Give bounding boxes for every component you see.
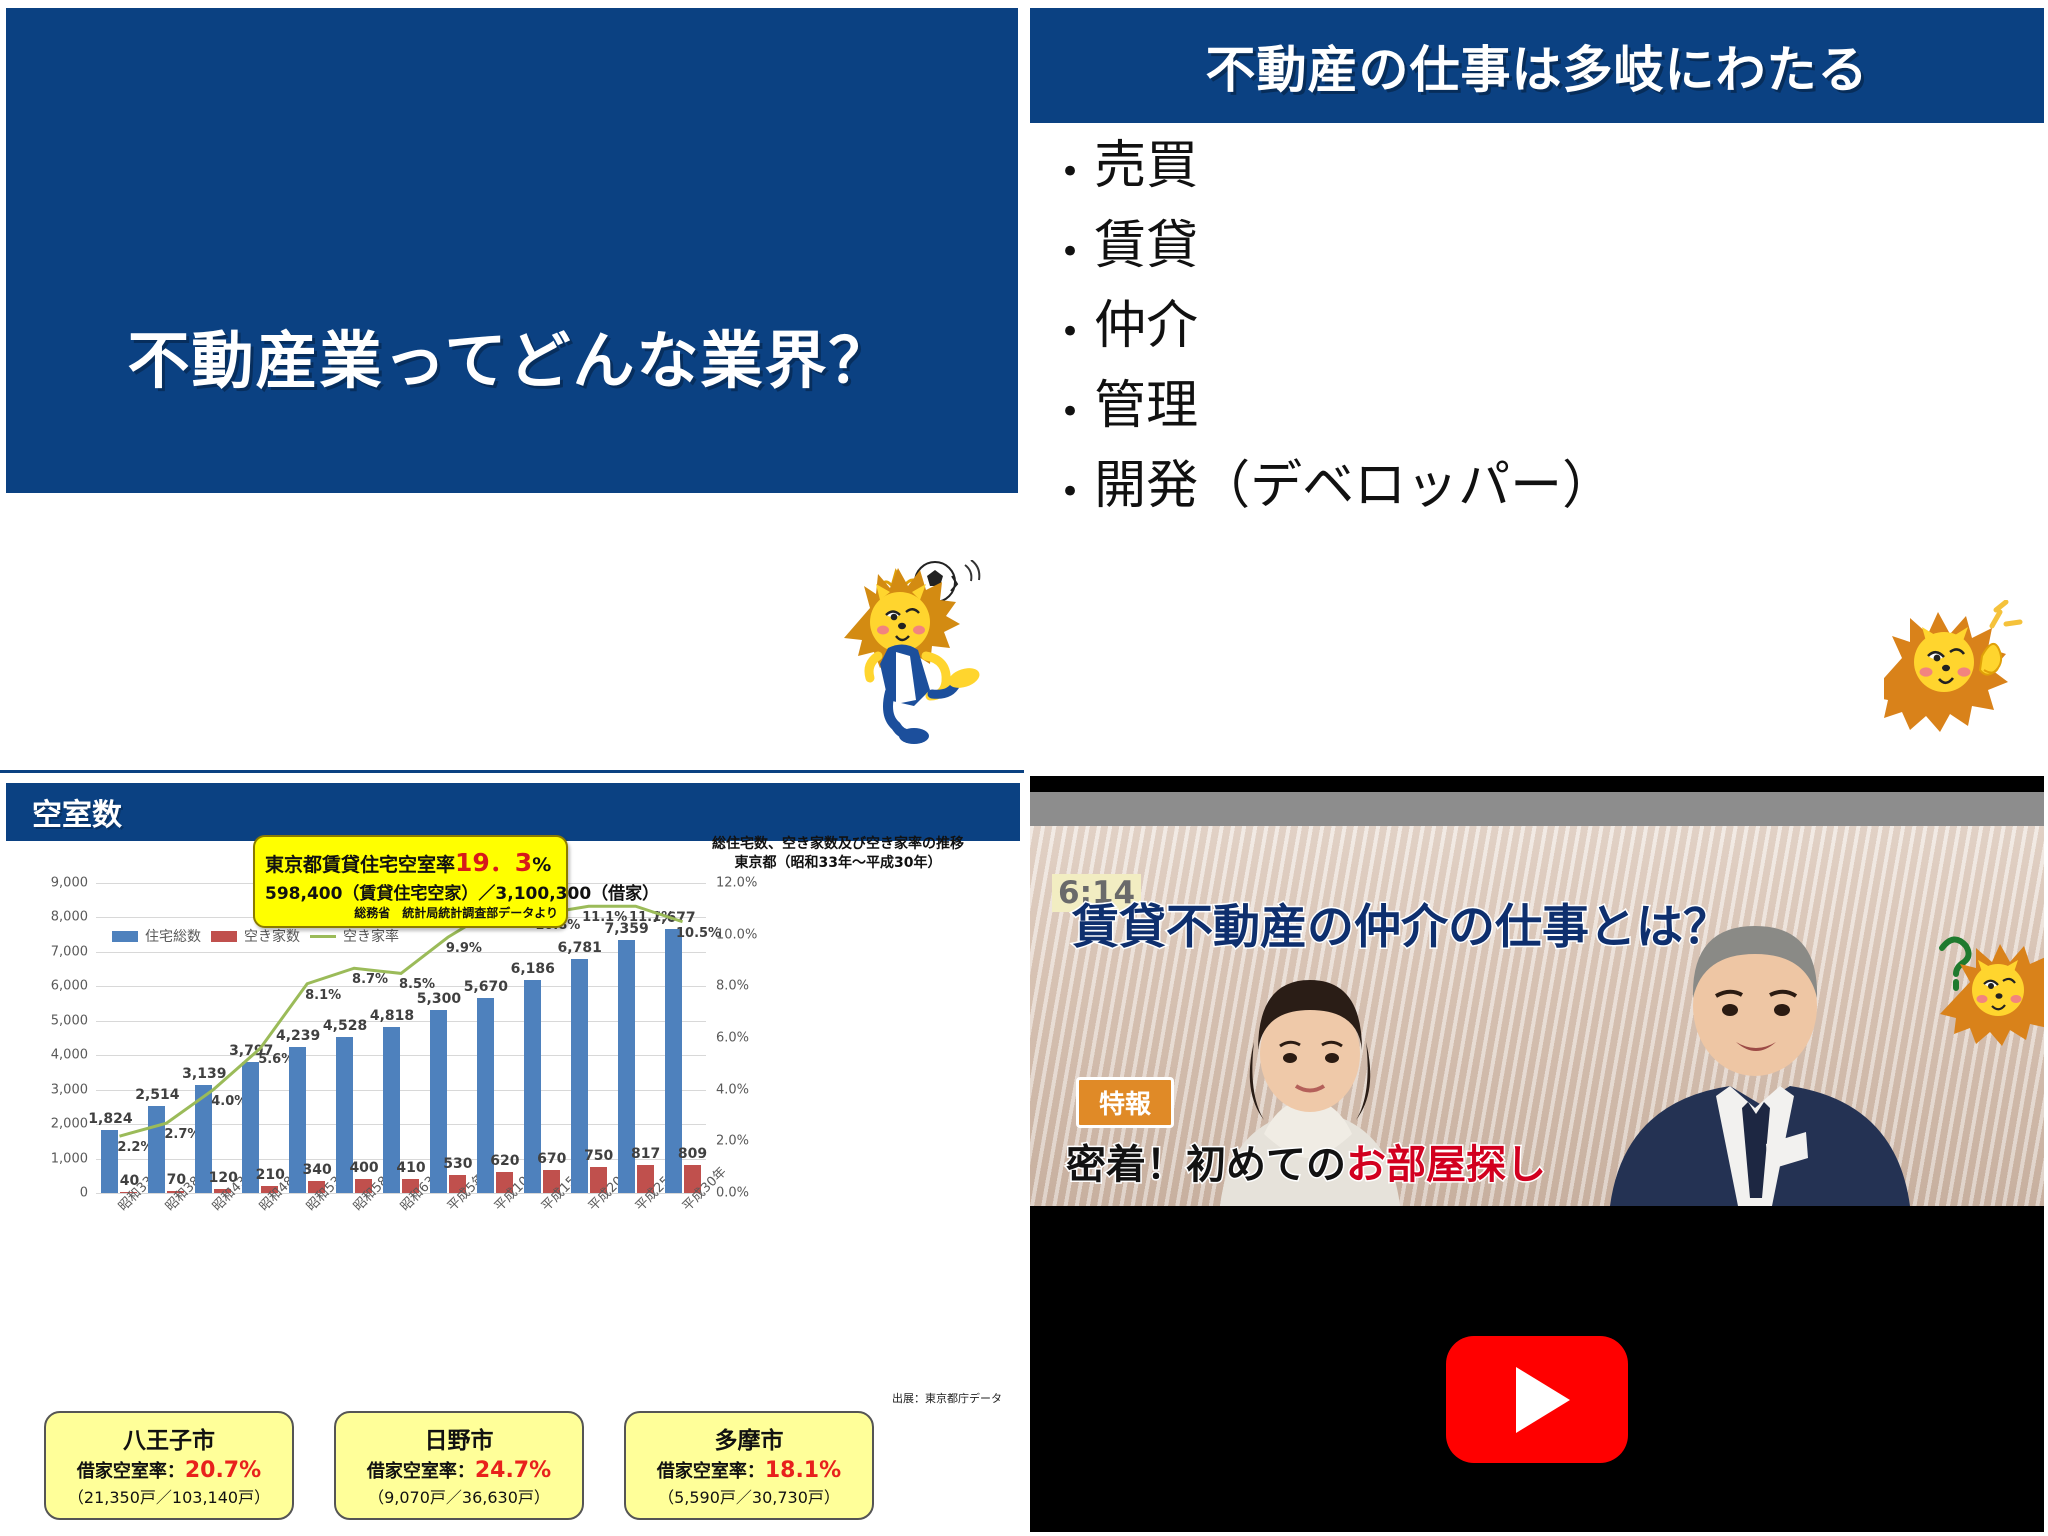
video-still-frame: 6:14 賃貸不動産の仲介の仕事とは？ 特報 密着！初めてのお部屋探し xyxy=(1030,826,2044,1206)
callout-percent-sign: % xyxy=(532,854,551,876)
callout-line1-prefix: 東京都賃貸住宅空室率 xyxy=(265,854,455,876)
y2-axis-tick-label: 12.0% xyxy=(716,876,757,891)
city-name: 多摩市 xyxy=(632,1421,866,1455)
slide-chart-panel: 空室数 東京都賃貸住宅空室率19．3% 598,400（賃貸住宅空家）／3,10… xyxy=(0,770,1024,1536)
callout-line1: 東京都賃貸住宅空室率19．3% xyxy=(265,843,558,879)
chart-bar-total-housing xyxy=(101,1130,118,1193)
chart-bar-label-vacant: 809 xyxy=(678,1146,707,1162)
chart-line-point-label: 10.5% xyxy=(676,926,721,941)
list-item: • 開発（デベロッパー） xyxy=(1060,460,2020,512)
list-item-label: 賃貸 xyxy=(1094,220,1198,272)
y2-axis-tick-label: 2.0% xyxy=(716,1134,749,1149)
callout-line2: 598,400（賃貸住宅空家）／3,100,300（借家） xyxy=(265,879,558,904)
page-title: 不動産業ってどんな業界？ xyxy=(0,310,1020,400)
y2-axis-tick-label: 10.0% xyxy=(716,927,757,942)
bullet-dot-icon: • xyxy=(1060,475,1080,509)
chart-bar-label-total: 4,239 xyxy=(276,1028,320,1044)
bullets-list: • 売買 • 賃貸 • 仲介 • 管理 • 開発（デベロッパー） xyxy=(1060,140,2020,540)
city-rate-value: 20.7% xyxy=(185,1458,261,1483)
chart-legend: 住宅総数 空き家数 空き家率 xyxy=(112,926,399,946)
chart-line-point-label: 9.9% xyxy=(446,941,482,956)
chart-bar-label-total: 2,514 xyxy=(135,1087,179,1103)
list-item-label: 開発（デベロッパー） xyxy=(1094,460,1614,512)
chart-bar-label-total: 4,818 xyxy=(370,1008,414,1024)
legend-swatch-total xyxy=(112,931,138,942)
city-detail: （9,070戸／36,630戸） xyxy=(342,1484,576,1508)
chart-gridline xyxy=(96,952,706,953)
legend-swatch-rate xyxy=(310,935,336,938)
city-rate-value: 24.7% xyxy=(475,1458,551,1483)
y-axis-tick-label: 5,000 xyxy=(51,1013,88,1028)
list-item: • 管理 xyxy=(1060,380,2020,432)
chart-bar-label-vacant: 670 xyxy=(537,1151,566,1167)
legend-label: 空き家数 xyxy=(244,926,300,946)
city-rate-label: 借家空室率： xyxy=(657,1461,765,1482)
list-item: • 売買 xyxy=(1060,140,2020,192)
legend-label: 空き家率 xyxy=(343,926,399,946)
y-axis-tick-label: 8,000 xyxy=(51,910,88,925)
list-item-label: 管理 xyxy=(1094,380,1198,432)
slide-bullets-panel: 不動産の仕事は多岐にわたる • 売買 • 賃貸 • 仲介 • 管理 • 開発（デ… xyxy=(1024,0,2048,770)
y-axis-tick-label: 1,000 xyxy=(51,1151,88,1166)
chart-gridline xyxy=(96,1090,706,1091)
chart-bar-label-total: 4,528 xyxy=(323,1018,367,1034)
chart-bar-label-total: 5,300 xyxy=(417,991,461,1007)
list-item: • 仲介 xyxy=(1060,300,2020,352)
chart-header-title: 空室数 xyxy=(32,790,122,834)
video-gray-band xyxy=(1030,792,2044,826)
city-rate-label: 借家空室率： xyxy=(77,1461,185,1482)
city-stat-card: 八王子市 借家空室率：20.7% （21,350戸／103,140戸） xyxy=(44,1411,294,1520)
y2-axis-tick-label: 0.0% xyxy=(716,1186,749,1201)
y-axis-tick-label: 2,000 xyxy=(51,1117,88,1132)
legend-item-vacancy-rate: 空き家率 xyxy=(310,926,399,946)
chart-gridline xyxy=(96,1055,706,1056)
chart-title-sub: 東京都（昭和33年～平成30年） xyxy=(688,854,988,873)
bullet-dot-icon: • xyxy=(1060,315,1080,349)
chart-bar-label-vacant: 530 xyxy=(443,1156,472,1172)
y2-axis-tick-label: 8.0% xyxy=(716,979,749,994)
video-subtitle-plain: 密着！初めての xyxy=(1066,1142,1346,1188)
city-detail: （5,590戸／30,730戸） xyxy=(632,1484,866,1508)
callout-rate-value: 19．3 xyxy=(455,848,532,877)
chart-bar-label-total: 7,677 xyxy=(651,910,695,926)
video-letterbox-top xyxy=(1030,776,2044,792)
chart-bar-label-total: 6,186 xyxy=(511,961,555,977)
city-stat-card: 日野市 借家空室率：24.7% （9,070戸／36,630戸） xyxy=(334,1411,584,1520)
special-report-badge: 特報 xyxy=(1076,1077,1174,1128)
list-item-label: 仲介 xyxy=(1094,300,1198,352)
y-axis-tick-label: 3,000 xyxy=(51,1082,88,1097)
city-rate-label: 借家空室率： xyxy=(367,1461,475,1482)
y-axis-tick-label: 7,000 xyxy=(51,944,88,959)
list-item-label: 売買 xyxy=(1094,140,1198,192)
slide-grid: 不動産業ってどんな業界？ xyxy=(0,0,2048,1536)
slide-title-panel: 不動産業ってどんな業界？ xyxy=(0,0,1024,770)
bullets-header-title: 不動産の仕事は多岐にわたる xyxy=(1206,30,1869,102)
city-rate-line: 借家空室率：18.1% xyxy=(632,1457,866,1483)
city-rate-line: 借家空室率：24.7% xyxy=(342,1457,576,1483)
lion-mascot-soccer-icon xyxy=(840,560,1010,750)
chart-source-note: 出展：東京都庁データ xyxy=(892,1390,1002,1406)
bullet-dot-icon: • xyxy=(1060,395,1080,429)
lion-mascot-question-icon xyxy=(1930,926,2044,1056)
city-name: 日野市 xyxy=(342,1421,576,1455)
chart-line-point-label: 8.5% xyxy=(399,977,435,992)
chart-bar-label-vacant: 750 xyxy=(584,1148,613,1164)
chart-gridline xyxy=(96,1124,706,1125)
chart-bar-label-total: 6,781 xyxy=(558,940,602,956)
city-stats-row: 八王子市 借家空室率：20.7% （21,350戸／103,140戸） 日野市 … xyxy=(44,1411,980,1520)
youtube-play-button[interactable] xyxy=(1446,1336,1628,1463)
chart-title-main: 総住宅数、空き家数及び空き家率の推移 xyxy=(688,835,988,854)
bullet-dot-icon: • xyxy=(1060,155,1080,189)
city-rate-value: 18.1% xyxy=(765,1458,841,1483)
city-stat-card: 多摩市 借家空室率：18.1% （5,590戸／30,730戸） xyxy=(624,1411,874,1520)
video-subtitle-highlight: お部屋探し xyxy=(1346,1142,1546,1188)
chart-title: 総住宅数、空き家数及び空き家率の推移 東京都（昭和33年～平成30年） xyxy=(688,835,988,873)
y-axis-tick-label: 9,000 xyxy=(51,876,88,891)
video-headline: 賃貸不動産の仲介の仕事とは？ xyxy=(1072,888,2022,957)
list-item: • 賃貸 xyxy=(1060,220,2020,272)
slide-video-panel: 6:14 賃貸不動産の仲介の仕事とは？ 特報 密着！初めてのお部屋探し xyxy=(1024,770,2048,1536)
chart-line-point-label: 8.7% xyxy=(352,972,388,987)
y2-axis-tick-label: 4.0% xyxy=(716,1082,749,1097)
video-player[interactable]: 6:14 賃貸不動産の仲介の仕事とは？ 特報 密着！初めてのお部屋探し xyxy=(1030,776,2044,1532)
city-name: 八王子市 xyxy=(52,1421,286,1455)
chart-bar-label-total: 1,824 xyxy=(88,1111,132,1127)
youtube-play-icon xyxy=(1516,1367,1570,1433)
chart-bar-label-vacant: 817 xyxy=(631,1146,660,1162)
bullets-header-bar: 不動産の仕事は多岐にわたる xyxy=(1030,8,2044,123)
bullet-dot-icon: • xyxy=(1060,235,1080,269)
y-axis-tick-label: 0 xyxy=(80,1186,88,1201)
y-axis-tick-label: 6,000 xyxy=(51,979,88,994)
title-blue-band xyxy=(6,8,1018,493)
vacancy-rate-callout: 東京都賃貸住宅空室率19．3% 598,400（賃貸住宅空家）／3,100,30… xyxy=(253,835,568,928)
city-rate-line: 借家空室率：20.7% xyxy=(52,1457,286,1483)
callout-line3-source: 総務省 統計局統計調査部データより xyxy=(265,904,558,921)
chart-bar-total-housing xyxy=(148,1106,165,1193)
chart-bar-label-total: 5,670 xyxy=(464,979,508,995)
lion-mascot-thumbsup-icon xyxy=(1884,600,2024,750)
legend-item-vacant-houses: 空き家数 xyxy=(211,926,300,946)
video-subtitle: 密着！初めてのお部屋探し xyxy=(1066,1132,1546,1190)
legend-item-total-housing: 住宅総数 xyxy=(112,926,201,946)
legend-label: 住宅総数 xyxy=(145,926,201,946)
chart-bar-label-vacant: 620 xyxy=(490,1153,519,1169)
city-detail: （21,350戸／103,140戸） xyxy=(52,1484,286,1508)
y2-axis-tick-label: 6.0% xyxy=(716,1031,749,1046)
legend-swatch-vacant xyxy=(211,931,237,942)
chart-bar-label-total: 3,139 xyxy=(182,1066,226,1082)
chart-header-bar: 空室数 xyxy=(6,783,1020,841)
chart-line-point-label: 8.1% xyxy=(305,988,341,1003)
y-axis-tick-label: 4,000 xyxy=(51,1048,88,1063)
